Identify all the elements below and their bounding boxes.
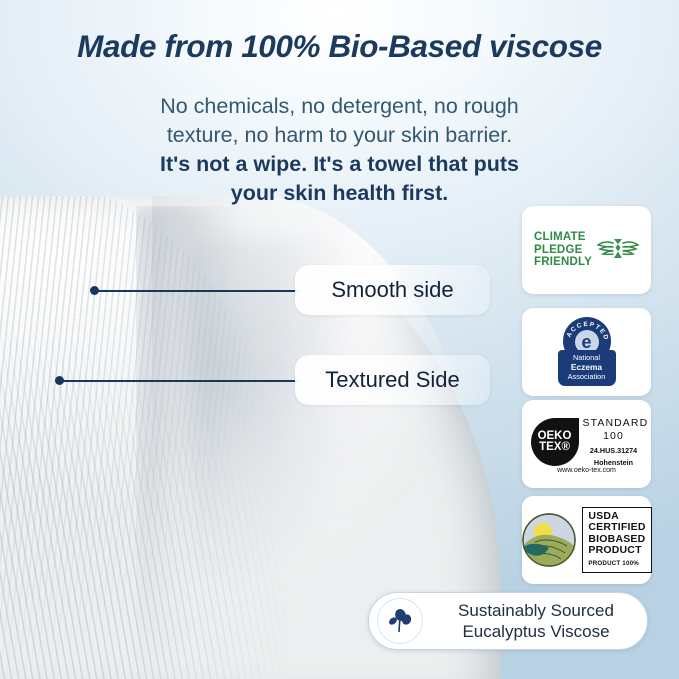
oeko-url: www.oeko-tex.com (529, 467, 645, 474)
subheading-line-3: It's not a wipe. It's a towel that puts (0, 150, 679, 179)
subheading-line-2: texture, no harm to your skin barrier. (0, 121, 679, 150)
eczema-line-2: Eczema (571, 362, 602, 372)
badge-oeko-tex: OEKO TEX® STANDARD 100 24.HUS.31274 Hohe… (522, 400, 651, 488)
badge-usda-certified-biobased: USDA CERTIFIED BIOBASED PRODUCT PRODUCT … (522, 496, 651, 584)
callout-textured-label: Textured Side (325, 367, 460, 393)
oeko-tex-drop-icon: OEKO TEX® (531, 418, 579, 466)
oeko-standard-label: STANDARD (583, 417, 645, 430)
page-title: Made from 100% Bio-Based viscose (0, 28, 679, 65)
oeko-mark-line-2: TEX® (539, 441, 570, 453)
badge-national-eczema-association: ACCEPTED e National Eczema Association (522, 308, 651, 396)
eucalyptus-line-2: Eucalyptus Viscose (433, 621, 639, 642)
callout-smooth-label: Smooth side (331, 277, 453, 303)
subheading: No chemicals, no detergent, no rough tex… (0, 92, 679, 208)
leader-dot-smooth-icon (90, 286, 99, 295)
sun-field-circle-icon (521, 512, 577, 568)
eucalyptus-line-1: Sustainably Sourced (433, 600, 639, 621)
winged-hourglass-icon (597, 233, 639, 267)
eczema-shield-text: National Eczema Association (558, 350, 616, 386)
climate-pledge-line-1: CLIMATE (534, 231, 592, 244)
eucalyptus-leaf-icon (385, 606, 415, 636)
eczema-seal: ACCEPTED e National Eczema Association (556, 317, 618, 387)
subheading-line-1: No chemicals, no detergent, no rough (0, 92, 679, 121)
oeko-institute: Hohenstein (583, 458, 645, 467)
climate-pledge-line-2: PLEDGE (534, 244, 592, 257)
infographic-canvas: Made from 100% Bio-Based viscose No chem… (0, 0, 679, 679)
callout-textured-side: Textured Side (295, 355, 490, 405)
oeko-tex-details: STANDARD 100 24.HUS.31274 Hohenstein (583, 417, 645, 467)
usda-content: USDA CERTIFIED BIOBASED PRODUCT PRODUCT … (521, 507, 651, 574)
usda-subtext: PRODUCT 100% (588, 558, 645, 570)
badge-climate-pledge-friendly: CLIMATE PLEDGE FRIENDLY (522, 206, 651, 294)
climate-pledge-line-3: FRIENDLY (534, 256, 592, 269)
eucalyptus-icon-circle (377, 598, 423, 644)
eucalyptus-text: Sustainably Sourced Eucalyptus Viscose (433, 600, 647, 642)
leader-line-smooth (95, 290, 300, 292)
oeko-standard-number: 100 (583, 430, 645, 443)
callout-smooth-side: Smooth side (295, 265, 490, 315)
usda-text-block: USDA CERTIFIED BIOBASED PRODUCT PRODUCT … (582, 507, 651, 574)
eucalyptus-sourcing-badge: Sustainably Sourced Eucalyptus Viscose (368, 592, 648, 650)
eczema-line-3: Association (558, 372, 616, 382)
oeko-mark-line-1: OEKO (538, 430, 572, 442)
subheading-line-4: your skin health first. (0, 179, 679, 208)
leader-dot-textured-icon (55, 376, 64, 385)
usda-line-4: PRODUCT (588, 545, 645, 557)
climate-pledge-content: CLIMATE PLEDGE FRIENDLY (534, 231, 639, 269)
climate-pledge-text: CLIMATE PLEDGE FRIENDLY (534, 231, 592, 269)
oeko-certificate-number: 24.HUS.31274 (583, 446, 645, 455)
oeko-tex-content: OEKO TEX® STANDARD 100 24.HUS.31274 Hohe… (529, 411, 645, 477)
leader-line-textured (60, 380, 300, 382)
